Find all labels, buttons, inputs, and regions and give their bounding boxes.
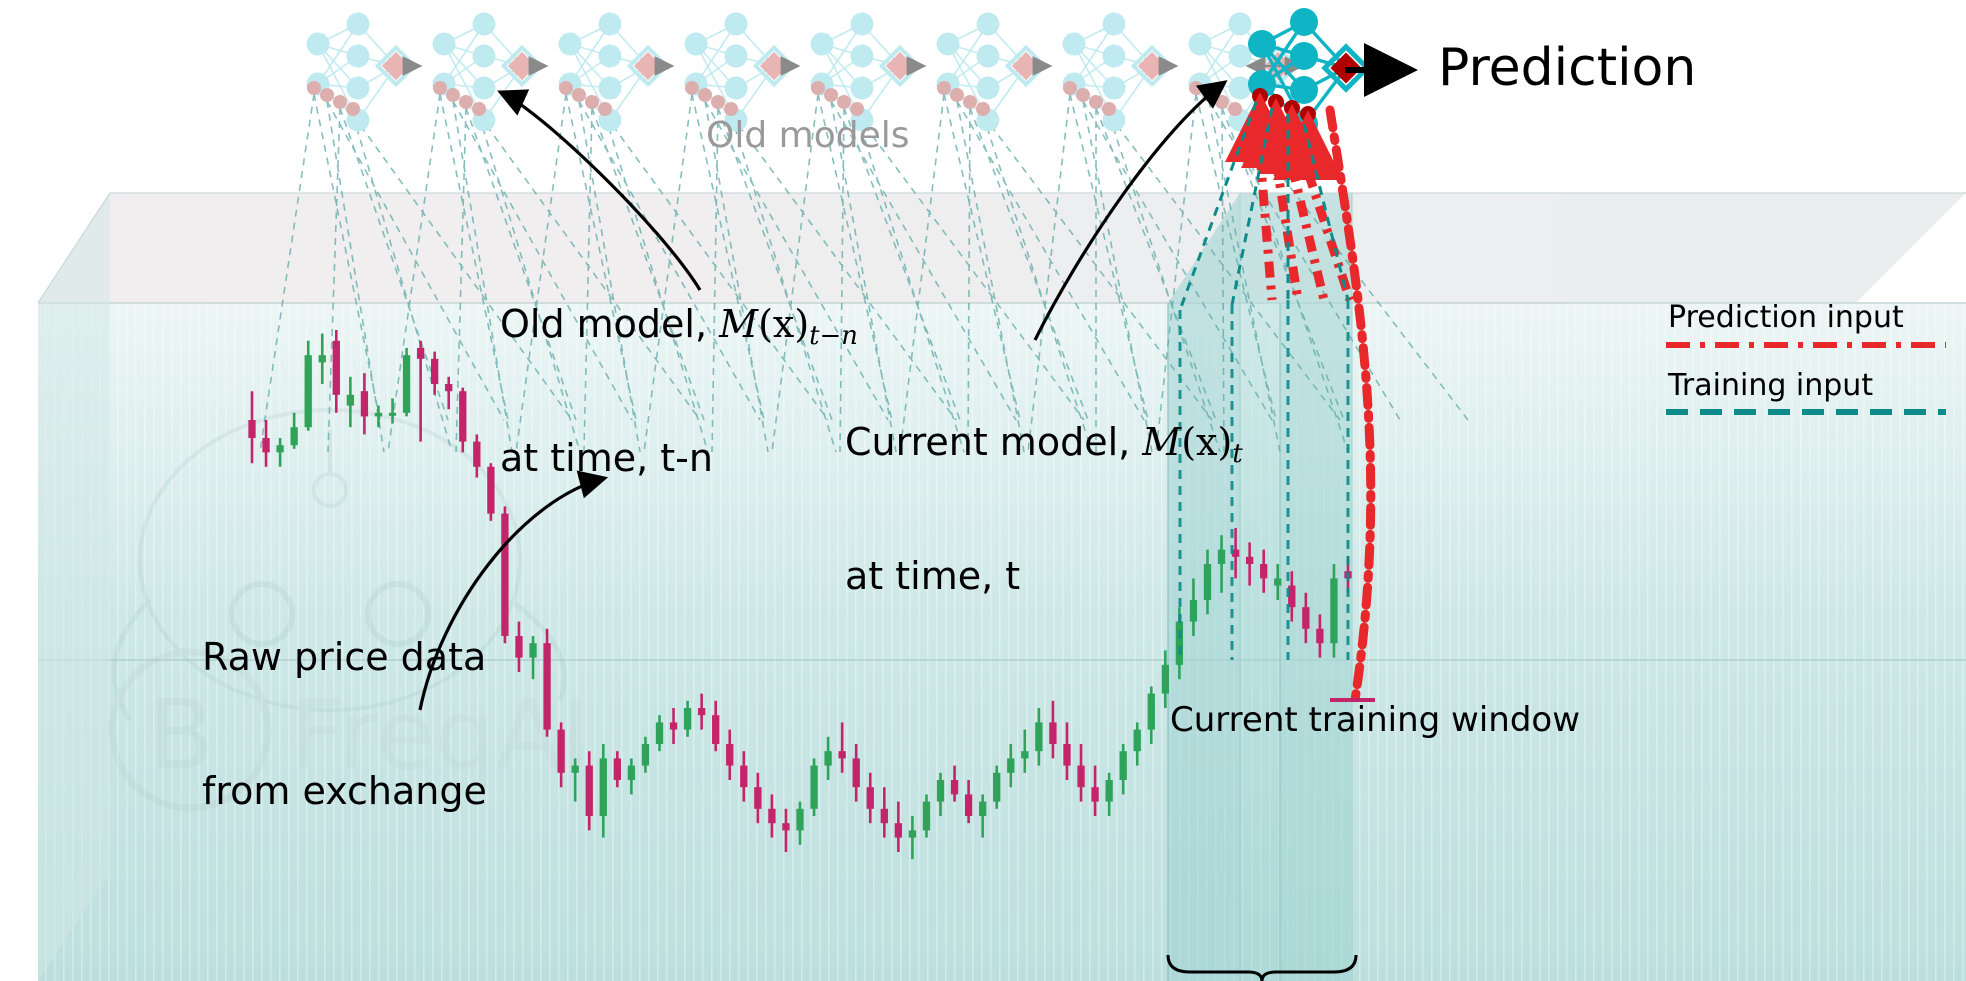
raw-price-line1: Raw price data (202, 635, 487, 680)
figure-canvas: B FreqAI (0, 0, 1966, 981)
raw-price-line2: from exchange (202, 769, 487, 814)
legend-label-prediction-input: Prediction input (1668, 300, 1904, 335)
current-model-text-pre: Current model, (845, 420, 1142, 464)
old-model-annotation: Old model, M(x)t−n at time, t-n (500, 212, 858, 571)
current-training-window-label: Current training window (1170, 700, 1580, 740)
old-models-group (307, 13, 1301, 132)
current-model-x: (x) (1181, 420, 1232, 464)
current-model-M: M (1142, 420, 1181, 464)
raw-price-annotation: Raw price data from exchange (202, 545, 487, 904)
old-model-text-pre: Old model, (500, 302, 719, 346)
old-models-label: Old models (706, 115, 909, 157)
current-model-time: at time, t (845, 554, 1243, 599)
prediction-label: Prediction (1438, 38, 1696, 99)
legend-label-training-input: Training input (1668, 368, 1873, 403)
old-model-M: M (719, 302, 758, 346)
current-model-subscript: t (1232, 439, 1242, 469)
current-model-annotation: Current model, M(x)t at time, t (845, 330, 1243, 689)
old-model-time: at time, t-n (500, 436, 858, 481)
old-model-x: (x) (758, 302, 809, 346)
